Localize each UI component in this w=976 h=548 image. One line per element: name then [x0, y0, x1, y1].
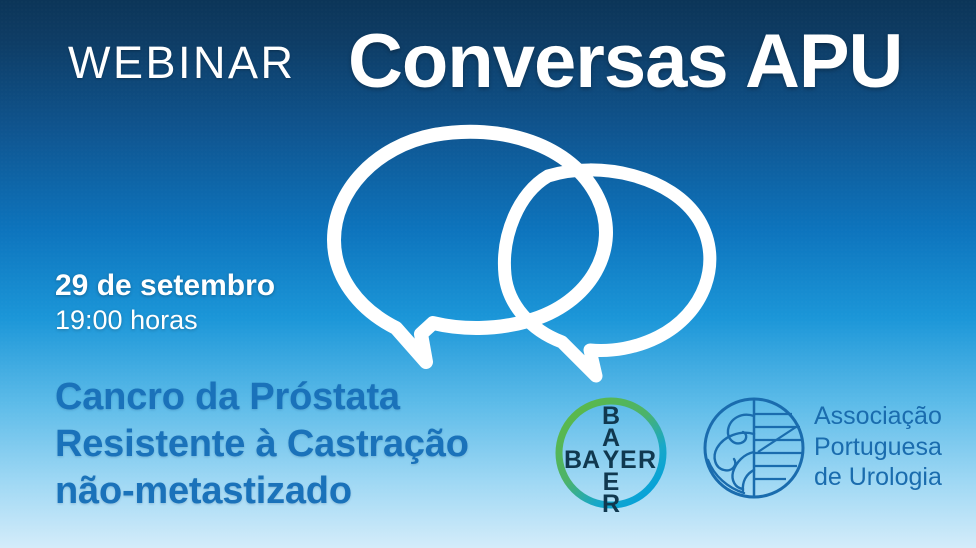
apu-logo: Associação Portuguesa de Urologia	[700, 394, 955, 506]
apu-text-line-2: Portuguesa	[814, 432, 942, 463]
topic-line-1: Cancro da Próstata	[55, 374, 469, 421]
bayer-logo: B A Y E R B A E R	[552, 394, 670, 512]
svg-text:E: E	[620, 446, 637, 474]
apu-emblem-icon	[700, 394, 808, 502]
page-title: Conversas APU	[348, 24, 902, 100]
topic-heading: Cancro da Próstata Resistente à Castraçã…	[55, 374, 469, 515]
topic-line-3: não-metastizado	[55, 468, 469, 515]
schedule-block: 29 de setembro 19:00 horas	[55, 269, 275, 335]
topic-line-2: Resistente à Castração	[55, 421, 469, 468]
webinar-kicker-label: WEBINAR	[68, 40, 296, 85]
svg-text:B: B	[564, 446, 582, 474]
speech-bubble-right	[504, 170, 709, 376]
apu-text-line-3: de Urologia	[814, 462, 942, 493]
speech-bubbles-icon	[300, 118, 720, 396]
webinar-banner: WEBINAR Conversas APU 29 de setembro 19:…	[0, 0, 976, 548]
svg-text:R: R	[602, 490, 620, 512]
svg-text:R: R	[638, 446, 656, 474]
apu-text-line-1: Associação	[814, 401, 942, 432]
event-date: 29 de setembro	[55, 269, 275, 303]
svg-text:A: A	[582, 446, 600, 474]
bayer-logo-svg: B A Y E R B A E R	[552, 394, 670, 512]
apu-wordmark: Associação Portuguesa de Urologia	[814, 401, 942, 493]
speech-bubbles-svg	[300, 118, 720, 396]
speech-bubble-left	[334, 132, 606, 362]
event-time: 19:00 horas	[55, 305, 275, 335]
apu-emblem-svg	[700, 394, 808, 502]
